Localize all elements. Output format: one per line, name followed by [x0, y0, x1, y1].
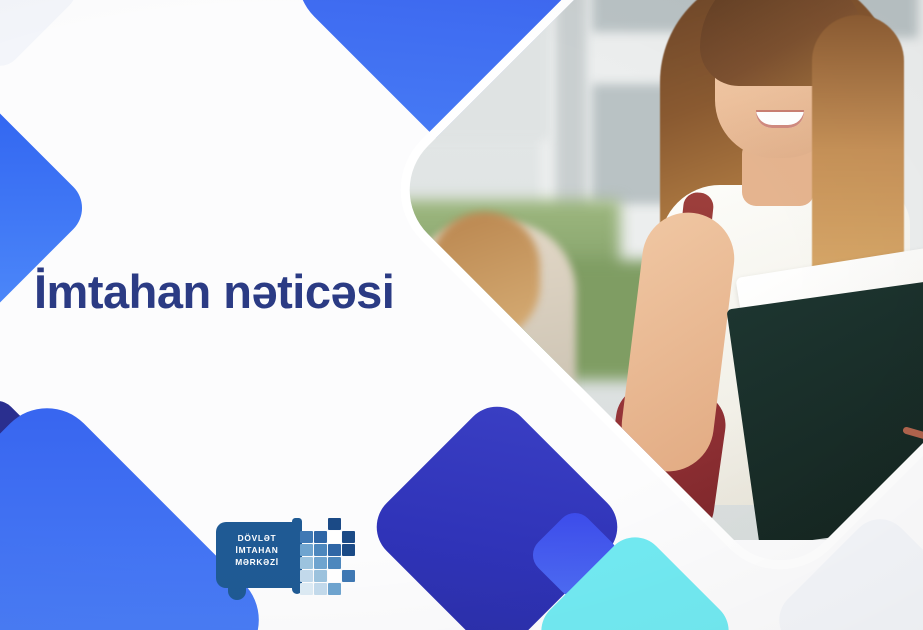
logo-mosaic-cell-15 [342, 557, 355, 569]
diamond-top-left-faint-shape [0, 0, 85, 75]
dovlet-imtahan-merkezi-logo[interactable]: DÖVLƏT İMTAHAN MƏRKƏZİ [216, 516, 356, 600]
logo-mosaic-cell-10 [328, 544, 341, 556]
exam-result-banner: İmtahan nəticəsi DÖVLƏT İMTAHAN MƏRKƏZİ [0, 0, 923, 630]
logo-text-line-1: DÖVLƏT [224, 532, 290, 544]
logo-mosaic-cell-13 [314, 557, 327, 569]
logo-text-line-2: İMTAHAN [224, 544, 290, 556]
logo-mosaic-cell-22 [328, 583, 341, 595]
logo-text: DÖVLƏT İMTAHAN MƏRKƏZİ [224, 532, 290, 568]
logo-text-line-3: MƏRKƏZİ [224, 556, 290, 568]
logo-mosaic-cell-23 [342, 583, 355, 595]
logo-pixel-mosaic-icon [300, 518, 358, 594]
logo-speech-bubble-tail [228, 584, 246, 600]
logo-mosaic-cell-20 [300, 583, 313, 595]
logo-mosaic-cell-5 [314, 531, 327, 543]
logo-mosaic-cell-21 [314, 583, 327, 595]
logo-mosaic-cell-19 [342, 570, 355, 582]
logo-mosaic-cell-2 [328, 518, 341, 530]
logo-mosaic-cell-6 [328, 531, 341, 543]
logo-mosaic-cell-14 [328, 557, 341, 569]
logo-mosaic-cell-16 [300, 570, 313, 582]
logo-mosaic-cell-11 [342, 544, 355, 556]
logo-mosaic-cell-9 [314, 544, 327, 556]
logo-mosaic-cell-4 [300, 531, 313, 543]
page-title: İmtahan nəticəsi [34, 264, 394, 319]
logo-mosaic-cell-18 [328, 570, 341, 582]
logo-mosaic-cell-7 [342, 531, 355, 543]
background-student-left-hair [430, 212, 540, 340]
notebook-dark [726, 277, 923, 540]
logo-mosaic-cell-17 [314, 570, 327, 582]
logo-mosaic-cell-3 [342, 518, 355, 530]
logo-mosaic-cell-12 [300, 557, 313, 569]
logo-mosaic-cell-0 [300, 518, 313, 530]
logo-mosaic-cell-8 [300, 544, 313, 556]
logo-mosaic-cell-1 [314, 518, 327, 530]
